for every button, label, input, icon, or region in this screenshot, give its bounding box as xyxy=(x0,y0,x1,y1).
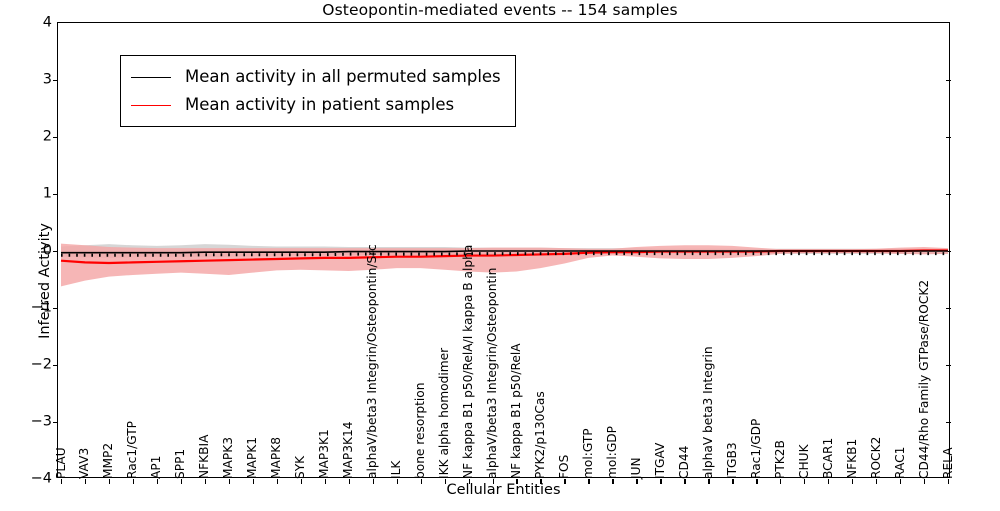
figure-canvas: Osteopontin-mediated events -- 154 sampl… xyxy=(0,0,1000,500)
legend-label-permuted: Mean activity in all permuted samples xyxy=(185,68,501,86)
x-tick-label: JUN xyxy=(630,457,642,479)
y-tick-label: 4 xyxy=(6,16,52,30)
x-tick-label: CD44/Rho Family GTPase/ROCK2 xyxy=(918,280,930,479)
x-tick-label: RAC1 xyxy=(894,447,906,479)
x-tick-label: NFKBIA xyxy=(198,435,210,479)
y-tick-label: 3 xyxy=(6,73,52,87)
x-tick-label: NF kappa B1 p50/RelA xyxy=(510,343,522,479)
y-tick-label: −3 xyxy=(6,415,52,429)
x-tick-label: NF kappa B1 p50/RelA/I kappa B alpha xyxy=(462,245,474,479)
x-tick-label: CHUK xyxy=(798,444,810,479)
x-tick-label: VAV3 xyxy=(78,448,90,479)
chart-legend: Mean activity in all permuted samples Me… xyxy=(120,55,516,127)
x-tick-label: SPP1 xyxy=(174,449,186,479)
x-tick-label: BCAR1 xyxy=(822,438,834,479)
x-tick-label: alphaV beta3 Integrin xyxy=(702,346,714,479)
x-tick-label: AP1 xyxy=(150,456,162,479)
x-tick-label: MAP3K1 xyxy=(318,429,330,479)
x-tick-label: ITGB3 xyxy=(726,442,738,479)
x-tick-label: PTK2B xyxy=(774,440,786,479)
legend-line-swatch-permuted xyxy=(131,77,171,78)
legend-item-permuted: Mean activity in all permuted samples xyxy=(131,63,501,91)
x-tick-label: bone resorption xyxy=(414,383,426,479)
x-tick-label: alphaV/beta3 Integrin/Osteopontin/Src xyxy=(366,244,378,479)
x-tick-label: Rac1/GTP xyxy=(126,421,138,479)
x-tick-label: ROCK2 xyxy=(870,437,882,479)
x-tick-label: MMP2 xyxy=(102,443,114,479)
x-tick-label: MAPK3 xyxy=(222,437,234,479)
y-tick-label: 1 xyxy=(6,187,52,201)
x-tick-label: alphaV/beta3 Integrin/Osteopontin xyxy=(486,268,498,479)
x-tick-label: mol:GDP xyxy=(606,426,618,479)
y-tick-label: −2 xyxy=(6,358,52,372)
legend-label-patient: Mean activity in patient samples xyxy=(185,96,454,114)
x-tick-label: PLAU xyxy=(55,447,67,479)
legend-item-patient: Mean activity in patient samples xyxy=(131,91,501,119)
chart-title: Osteopontin-mediated events -- 154 sampl… xyxy=(0,0,1000,20)
y-tick-label: 2 xyxy=(6,130,52,144)
x-axis-label: Cellular Entities xyxy=(57,482,950,498)
x-tick-label: FOS xyxy=(558,455,570,479)
y-tick-label: 0 xyxy=(6,244,52,258)
x-tick-label: MAP3K14 xyxy=(342,422,354,479)
x-tick-label: mol:GTP xyxy=(582,428,594,479)
y-axis-label: Inferred Activity xyxy=(37,51,53,511)
x-tick-label: SYK xyxy=(294,456,306,479)
x-tick-label: Rac1/GDP xyxy=(750,419,762,479)
x-tick-label: IKK alpha homodimer xyxy=(438,348,450,479)
y-tick-label: −1 xyxy=(6,301,52,315)
x-tick-label: NFKB1 xyxy=(846,439,858,479)
plot-area: Inferred Activity 43210−1−2−3−4 PLAUVAV3… xyxy=(57,22,950,478)
x-tick-label: MAPK1 xyxy=(246,437,258,479)
x-tick-label: ILK xyxy=(390,461,402,479)
x-tick-label: CD44 xyxy=(678,446,690,479)
y-tick-label: −4 xyxy=(6,472,52,486)
legend-line-swatch-patient xyxy=(131,105,171,106)
x-tick-label: PYK2/p130Cas xyxy=(534,391,546,479)
x-tick-label: ITGAV xyxy=(654,443,666,479)
x-tick-label: MAPK8 xyxy=(270,437,282,479)
x-tick-label: RELA xyxy=(942,447,954,479)
